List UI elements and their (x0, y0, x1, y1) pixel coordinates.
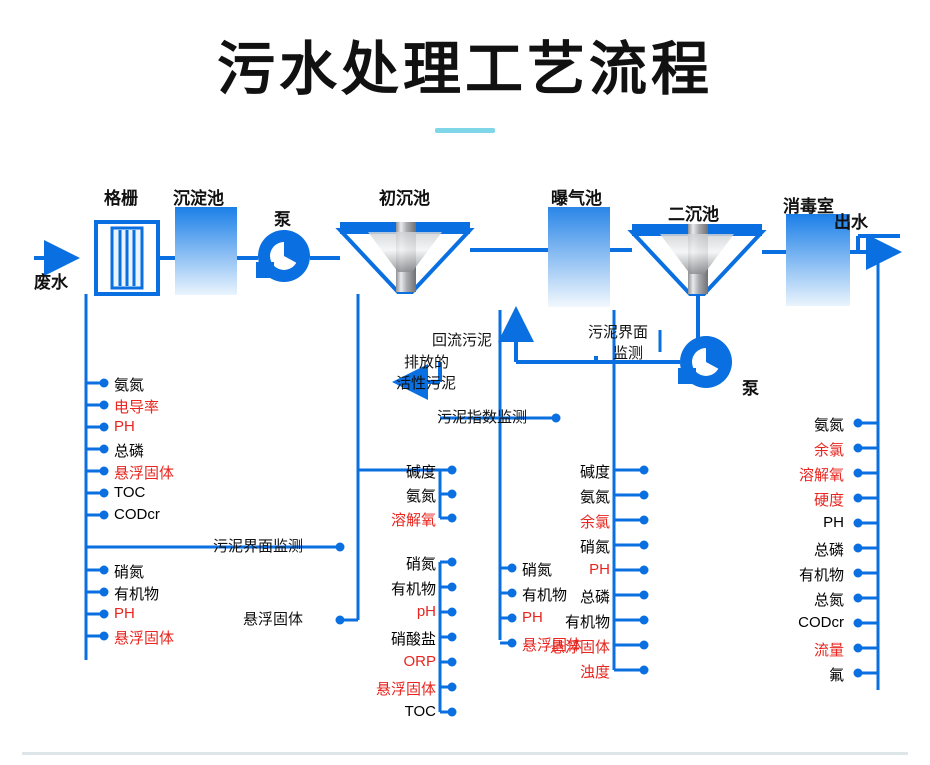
sludge-interface-monitor-2: 污泥界面监测 (213, 537, 303, 557)
item-secondary-1: 氨氮 (556, 486, 610, 507)
discharged-sludge-line2: 活性污泥 (396, 374, 456, 394)
item-inlet-upper-3: 总磷 (114, 440, 144, 461)
item-outlet-0: 氨氮 (784, 414, 844, 435)
return-sludge-label: 回流污泥 (432, 331, 492, 351)
item-inlet-upper-4: 悬浮固体 (114, 462, 174, 483)
flow-inlet-label: 废水 (34, 268, 68, 293)
diagram-canvas: 污水处理工艺流程 (0, 0, 930, 765)
item-primary-lower-5: 悬浮固体 (360, 678, 436, 699)
item-outlet-7: 总氮 (784, 589, 844, 610)
item-outlet-4: PH (784, 514, 844, 531)
item-outlet-10: 氟 (784, 664, 844, 685)
node-label-disinfection: 消毒室 (783, 192, 834, 217)
item-secondary-8: 浊度 (546, 661, 610, 682)
item-primary-lower-4: ORP (382, 653, 436, 670)
item-outlet-9: 流量 (784, 639, 844, 660)
item-outlet-5: 总磷 (784, 539, 844, 560)
item-inlet-upper-0: 氨氮 (114, 374, 144, 395)
item-inlet-upper-2: PH (114, 418, 135, 435)
item-outlet-8: CODcr (774, 614, 844, 631)
item-inlet-upper-5: TOC (114, 484, 145, 501)
item-inlet-upper-6: CODcr (114, 506, 160, 523)
item-secondary-2: 余氯 (556, 511, 610, 532)
item-primary-upper-1: 氨氮 (392, 485, 436, 506)
item-inlet-lower-2: PH (114, 605, 135, 622)
item-aeration-0: 硝氮 (522, 559, 552, 580)
item-primary-upper-0: 碱度 (392, 461, 436, 482)
item-secondary-6: 有机物 (540, 611, 610, 632)
item-inlet-lower-1: 有机物 (114, 583, 159, 604)
node-label-pump-1: 泵 (274, 205, 291, 230)
item-secondary-4: PH (556, 561, 610, 578)
item-secondary-7: 悬浮固体 (526, 636, 610, 657)
item-inlet-upper-1: 电导率 (114, 396, 159, 417)
item-secondary-3: 硝氮 (556, 536, 610, 557)
sludge-index-monitor: 污泥指数监测 (437, 408, 527, 428)
item-inlet-lower-3: 悬浮固体 (114, 627, 174, 648)
node-label-pump-2: 泵 (742, 374, 759, 399)
item-primary-lower-1: 有机物 (382, 578, 436, 599)
item-outlet-6: 有机物 (774, 564, 844, 585)
item-outlet-2: 溶解氧 (774, 464, 844, 485)
node-label-primary-tank: 初沉池 (379, 184, 430, 209)
node-label-secondary-tank: 二沉池 (668, 200, 719, 225)
item-primary-lower-6: TOC (382, 703, 436, 720)
item-outlet-3: 硬度 (784, 489, 844, 510)
item-inlet-lower-0: 硝氮 (114, 561, 144, 582)
item-primary-lower-0: 硝氮 (382, 553, 436, 574)
sludge-interface-line1: 污泥界面 (588, 323, 648, 343)
item-secondary-5: 总磷 (556, 586, 610, 607)
suspended-solids-note: 悬浮固体 (243, 610, 303, 630)
item-secondary-0: 碱度 (556, 461, 610, 482)
item-primary-lower-2: pH (382, 603, 436, 620)
item-primary-lower-3: 硝酸盐 (376, 628, 436, 649)
sludge-interface-line2: 监测 (613, 344, 643, 364)
discharged-sludge-line1: 排放的 (404, 353, 449, 373)
node-label-grate: 格栅 (104, 184, 138, 209)
node-label-sedimentation: 沉淀池 (173, 184, 224, 209)
item-primary-upper-2: 溶解氧 (382, 509, 436, 530)
item-outlet-1: 余氯 (784, 439, 844, 460)
flow-outlet-label: 出水 (834, 208, 868, 233)
node-label-aeration-tank: 曝气池 (551, 184, 602, 209)
